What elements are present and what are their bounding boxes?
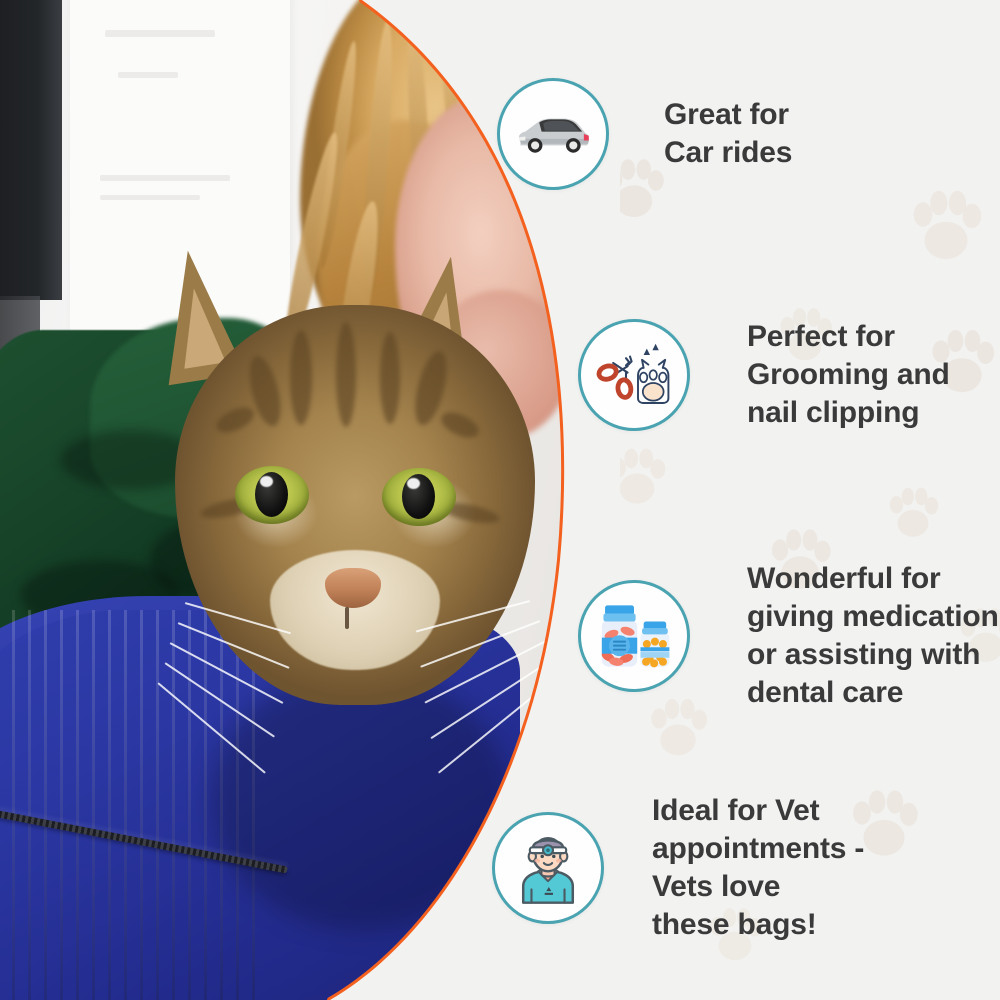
feature-label: Wonderful for giving medication or assis…	[747, 560, 999, 712]
photo-monitor-edge	[0, 0, 62, 300]
veterinarian-icon	[510, 830, 586, 906]
feature-icon-circle[interactable]	[497, 78, 609, 190]
feature-label: Ideal for Vet appointments - Vets love t…	[652, 792, 864, 944]
car-icon	[514, 111, 592, 157]
feature-icon-circle[interactable]	[578, 319, 690, 431]
feature-grooming[interactable]: Perfect for Grooming and nail clipping	[578, 318, 950, 432]
pill-bottles-icon	[592, 599, 676, 673]
nail-clippers-paw-icon	[594, 339, 674, 411]
feature-car-rides[interactable]: Great for Car rides	[497, 78, 792, 190]
feature-icon-circle[interactable]	[578, 580, 690, 692]
feature-medication[interactable]: Wonderful for giving medication or assis…	[578, 560, 999, 712]
feature-label: Perfect for Grooming and nail clipping	[747, 318, 950, 432]
feature-label: Great for Car rides	[664, 96, 792, 172]
feature-icon-circle[interactable]	[492, 812, 604, 924]
infographic-canvas: Great for Car rides	[0, 0, 1000, 1000]
feature-vet-appointments[interactable]: Ideal for Vet appointments - Vets love t…	[492, 792, 864, 944]
photo-cat	[140, 250, 570, 810]
